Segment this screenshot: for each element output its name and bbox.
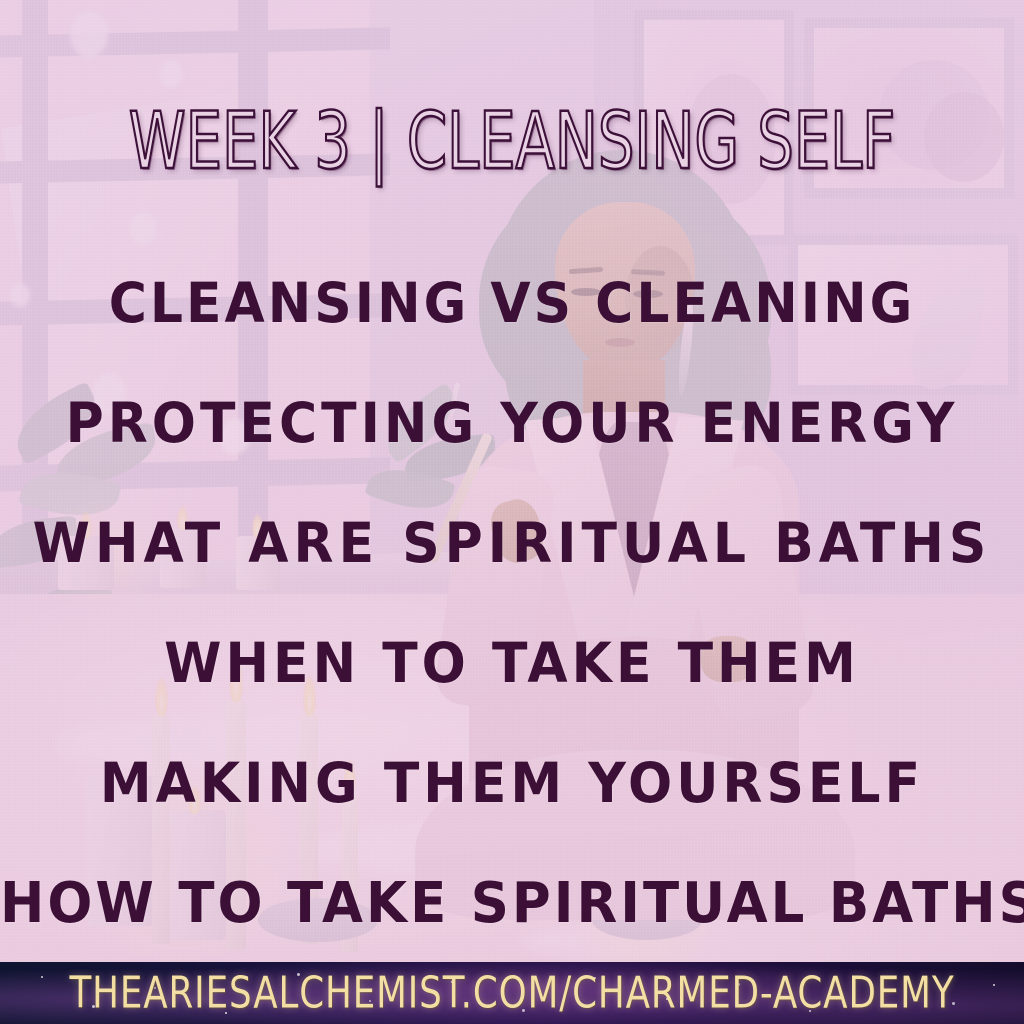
- topic-item: HOW TO TAKE SPIRITUAL BATHS: [0, 840, 1024, 967]
- topic-item: WHEN TO TAKE THEM: [0, 600, 1024, 727]
- topic-item: CLEANSING VS CLEANING: [0, 240, 1024, 367]
- page-title: WEEK 3 | CLEANSING SELF: [92, 103, 932, 181]
- topic-item: MAKING THEM YOURSELF: [0, 720, 1024, 847]
- poster-canvas: WEEK 3 | CLEANSING SELF CLEANSING VS CLE…: [0, 0, 1024, 1024]
- topic-list: CLEANSING VS CLEANING PROTECTING YOUR EN…: [0, 244, 1024, 964]
- footer-banner: THEARIESALCHEMIST.COM/CHARMED-ACADEMY: [0, 962, 1024, 1024]
- poster-content: WEEK 3 | CLEANSING SELF CLEANSING VS CLE…: [0, 0, 1024, 1024]
- topic-item: PROTECTING YOUR ENERGY: [0, 360, 1024, 487]
- star: [993, 984, 995, 986]
- topic-item: WHAT ARE SPIRITUAL BATHS: [0, 480, 1024, 607]
- star: [41, 976, 43, 978]
- footer-url: THEARIESALCHEMIST.COM/CHARMED-ACADEMY: [51, 968, 973, 1019]
